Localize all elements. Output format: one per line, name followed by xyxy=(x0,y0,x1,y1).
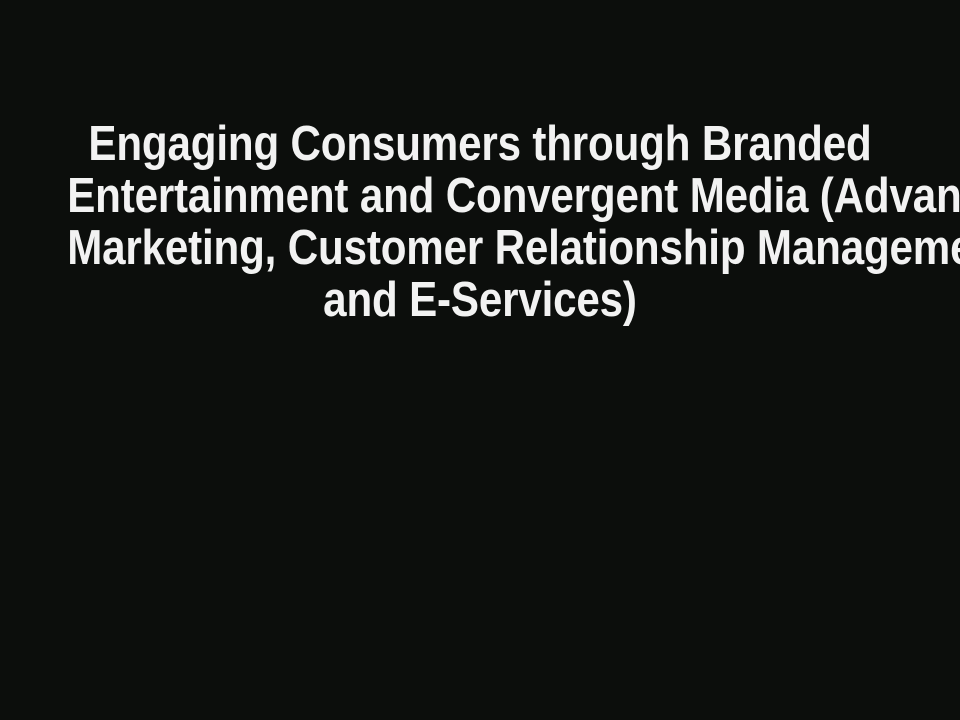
book-cover: Engaging Consumers through Branded Enter… xyxy=(0,0,960,720)
title-line-1: Engaging Consumers through Branded xyxy=(67,118,893,170)
title-line-3: Marketing, Customer Relationship Managem… xyxy=(67,222,893,274)
book-title: Engaging Consumers through Branded Enter… xyxy=(0,118,960,326)
title-line-4: and E-Services) xyxy=(67,274,893,326)
title-line-2: Entertainment and Convergent Media (Adva… xyxy=(67,170,893,222)
